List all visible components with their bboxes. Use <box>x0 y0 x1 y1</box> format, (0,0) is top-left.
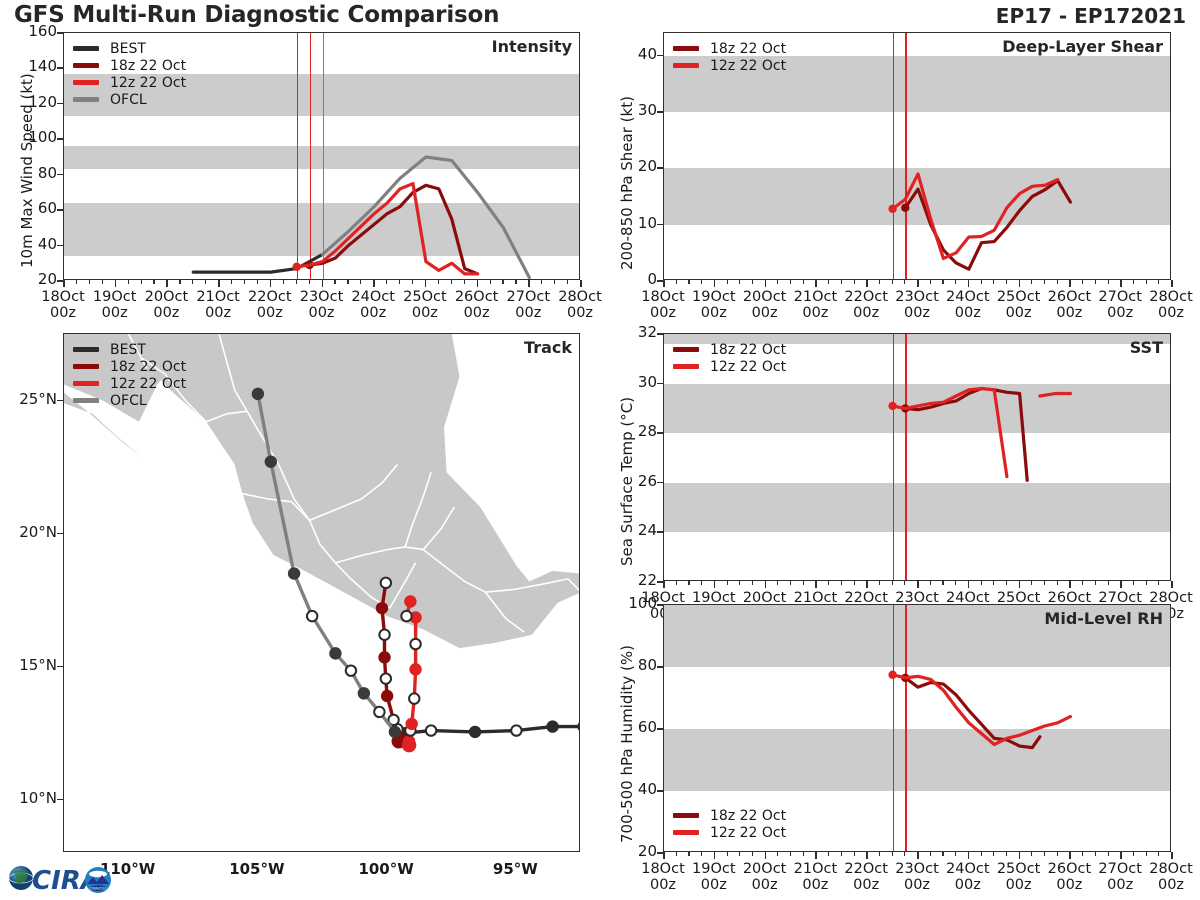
track-point-marker <box>410 664 420 674</box>
legend-label-best: BEST <box>110 41 146 57</box>
x-minor-tick <box>1082 581 1083 585</box>
track-origin-marker <box>402 738 416 752</box>
x-tick-mark <box>477 280 479 287</box>
x-tick-mark <box>580 280 582 287</box>
track-lat-tick <box>57 666 63 668</box>
x-minor-tick <box>1031 280 1032 284</box>
legend-label-run18z: 18z 22 Oct <box>710 808 786 824</box>
x-minor-tick <box>1095 581 1096 585</box>
legend-label-run12z: 12z 22 Oct <box>710 825 786 841</box>
legend-swatch-best <box>73 347 99 352</box>
track-point-marker <box>406 719 416 729</box>
track-point-marker <box>374 707 384 717</box>
x-minor-tick <box>752 280 753 284</box>
y-tick-mark <box>657 111 663 113</box>
legend-swatch-run18z <box>673 46 699 51</box>
x-tick-mark <box>1171 280 1173 287</box>
x-minor-tick <box>1133 581 1134 585</box>
cira-logo: CIRA CIRA/CSU <box>6 858 118 898</box>
x-tick-mark <box>815 581 817 588</box>
y-tick-mark <box>57 138 63 140</box>
x-minor-tick <box>993 581 994 585</box>
x-minor-tick <box>739 581 740 585</box>
sst-plot-area: SST 18z 22 Oct12z 22 Oct <box>663 333 1171 581</box>
x-minor-tick <box>854 581 855 585</box>
track-point-marker <box>379 630 389 640</box>
legend-label-run18z: 18z 22 Oct <box>710 342 786 358</box>
legend-entry-run18z: 18z 22 Oct <box>673 341 786 358</box>
y-tick-label: 28 <box>605 422 657 440</box>
x-minor-tick <box>904 852 905 856</box>
track-plot-area: Track BEST18z 22 Oct12z 22 OctOFCL <box>63 333 580 852</box>
x-minor-tick <box>892 581 893 585</box>
x-tick-mark <box>63 280 65 287</box>
page-title: GFS Multi-Run Diagnostic Comparison <box>14 2 499 28</box>
x-tick-mark <box>917 581 919 588</box>
x-minor-tick <box>1095 280 1096 284</box>
x-minor-tick <box>739 280 740 284</box>
x-minor-tick <box>701 852 702 856</box>
x-minor-tick <box>541 280 542 284</box>
y-tick-label: 10 <box>605 214 657 232</box>
track-lat-tick <box>57 400 63 402</box>
legend-entry-best: BEST <box>73 341 186 358</box>
x-minor-tick <box>76 280 77 284</box>
x-tick-mark <box>1069 280 1071 287</box>
storm-id-label: EP17 - EP172021 <box>996 4 1186 28</box>
x-minor-tick <box>790 280 791 284</box>
y-tick-mark <box>657 432 663 434</box>
x-minor-tick <box>1057 581 1058 585</box>
track-point-marker <box>547 721 557 731</box>
y-tick-label: 30 <box>605 101 657 119</box>
x-minor-tick <box>1057 280 1058 284</box>
x-minor-tick <box>360 280 361 284</box>
x-minor-tick <box>854 852 855 856</box>
legend-swatch-ofcl <box>73 97 99 102</box>
legend-entry-run18z: 18z 22 Oct <box>673 807 786 824</box>
x-minor-tick <box>828 581 829 585</box>
x-minor-tick <box>942 852 943 856</box>
x-minor-tick <box>231 280 232 284</box>
track-point-marker <box>470 727 480 737</box>
legend-entry-ofcl: OFCL <box>73 91 186 108</box>
x-minor-tick <box>752 852 753 856</box>
track-point-marker <box>330 648 340 658</box>
legend-entry-ofcl: OFCL <box>73 392 186 409</box>
x-tick-mark <box>270 280 272 287</box>
x-minor-tick <box>739 852 740 856</box>
x-minor-tick <box>179 280 180 284</box>
x-minor-tick <box>334 280 335 284</box>
x-tick-mark <box>815 852 817 859</box>
y-tick-mark <box>657 531 663 533</box>
x-tick-mark <box>765 581 767 588</box>
track-lat-label: 10°N <box>0 789 57 807</box>
x-minor-tick <box>828 852 829 856</box>
x-tick-mark <box>1019 852 1021 859</box>
y-tick-mark <box>57 32 63 34</box>
x-minor-tick <box>777 581 778 585</box>
x-minor-tick <box>688 280 689 284</box>
x-minor-tick <box>347 280 348 284</box>
track-point-marker <box>377 603 387 613</box>
rh-legend: 18z 22 Oct12z 22 Oct <box>673 807 786 841</box>
legend-swatch-run18z <box>73 63 99 68</box>
y-tick-label: 20 <box>605 842 657 860</box>
x-minor-tick <box>1044 280 1045 284</box>
x-minor-tick <box>502 280 503 284</box>
track-lon-label: 95°W <box>475 861 555 878</box>
x-tick-mark <box>1171 852 1173 859</box>
x-tick-mark <box>663 280 665 287</box>
x-minor-tick <box>1082 280 1083 284</box>
y-tick-label: 32 <box>605 323 657 341</box>
track-legend: BEST18z 22 Oct12z 22 OctOFCL <box>73 341 186 409</box>
x-minor-tick <box>701 581 702 585</box>
x-minor-tick <box>1006 581 1007 585</box>
y-tick-mark <box>657 728 663 730</box>
x-tick-mark <box>917 280 919 287</box>
x-minor-tick <box>309 280 310 284</box>
legend-entry-run12z: 12z 22 Oct <box>73 375 186 392</box>
x-minor-tick <box>1146 280 1147 284</box>
x-tick-mark <box>1120 852 1122 859</box>
y-tick-mark <box>657 224 663 226</box>
x-minor-tick <box>879 581 880 585</box>
x-tick-mark <box>115 280 117 287</box>
x-minor-tick <box>981 280 982 284</box>
y-tick-label: 80 <box>5 164 57 182</box>
x-tick-mark <box>425 280 427 287</box>
x-minor-tick <box>688 581 689 585</box>
legend-swatch-ofcl <box>73 398 99 403</box>
x-minor-tick <box>1133 280 1134 284</box>
x-minor-tick <box>841 852 842 856</box>
sst-legend: 18z 22 Oct12z 22 Oct <box>673 341 786 375</box>
track-lat-tick <box>57 799 63 801</box>
legend-label-run18z: 18z 22 Oct <box>110 58 186 74</box>
x-minor-tick <box>676 852 677 856</box>
x-tick-mark <box>1171 581 1173 588</box>
y-tick-mark <box>57 103 63 105</box>
svg-text:CIRA/CSU: CIRA/CSU <box>90 887 107 891</box>
x-tick-mark <box>1120 280 1122 287</box>
x-minor-tick <box>841 280 842 284</box>
y-tick-mark <box>657 383 663 385</box>
x-minor-tick <box>942 280 943 284</box>
track-point-marker <box>381 673 391 683</box>
legend-swatch-run18z <box>73 364 99 369</box>
y-tick-label: 24 <box>605 521 657 539</box>
x-minor-tick <box>841 581 842 585</box>
x-minor-tick <box>1006 280 1007 284</box>
track-point-marker <box>401 611 411 621</box>
legend-swatch-best <box>73 46 99 51</box>
x-minor-tick <box>153 280 154 284</box>
y-tick-mark <box>657 666 663 668</box>
x-tick-mark <box>663 852 665 859</box>
track-lat-label: 15°N <box>0 656 57 674</box>
x-tick-mark <box>1019 280 1021 287</box>
x-tick-mark <box>1019 581 1021 588</box>
x-minor-tick <box>879 280 880 284</box>
y-tick-mark <box>657 55 663 57</box>
x-minor-tick <box>1108 581 1109 585</box>
track-series-group <box>64 334 580 852</box>
x-minor-tick <box>752 581 753 585</box>
legend-entry-run12z: 12z 22 Oct <box>673 57 786 74</box>
intensity-legend: BEST18z 22 Oct12z 22 OctOFCL <box>73 40 186 108</box>
series-start-marker <box>888 205 896 213</box>
track-point-marker <box>426 725 436 735</box>
x-minor-tick <box>89 280 90 284</box>
y-tick-mark <box>657 790 663 792</box>
x-minor-tick <box>904 280 905 284</box>
legend-label-run12z: 12z 22 Oct <box>710 58 786 74</box>
x-minor-tick <box>1044 852 1045 856</box>
x-minor-tick <box>412 280 413 284</box>
x-minor-tick <box>1044 581 1045 585</box>
series-line-12z-22-oct-tail <box>1040 394 1070 396</box>
x-minor-tick <box>803 280 804 284</box>
y-tick-label: 26 <box>605 472 657 490</box>
x-minor-tick <box>1146 852 1147 856</box>
y-tick-mark <box>57 67 63 69</box>
track-lon-label: 105°W <box>217 861 297 878</box>
x-tick-mark <box>714 280 716 287</box>
legend-entry-run12z: 12z 22 Oct <box>73 74 186 91</box>
x-tick-mark <box>166 280 168 287</box>
track-lat-tick <box>57 533 63 535</box>
track-point-marker <box>346 665 356 675</box>
track-point-marker <box>266 457 276 467</box>
x-minor-tick <box>128 280 129 284</box>
y-tick-mark <box>657 482 663 484</box>
shear-plot-area: Deep-Layer Shear 18z 22 Oct12z 22 Oct <box>663 32 1171 280</box>
track-lat-label: 20°N <box>0 523 57 541</box>
series-line-12z-22-oct <box>297 184 478 274</box>
x-tick-mark <box>815 280 817 287</box>
x-minor-tick <box>567 280 568 284</box>
track-lon-label: 100°W <box>346 861 426 878</box>
x-tick-mark <box>663 581 665 588</box>
x-minor-tick <box>993 280 994 284</box>
track-point-marker <box>382 691 392 701</box>
x-minor-tick <box>803 852 804 856</box>
y-tick-mark <box>657 333 663 335</box>
panel-shear: Deep-Layer Shear 18z 22 Oct12z 22 Oct <box>663 32 1171 280</box>
y-tick-label: 20 <box>5 270 57 288</box>
y-tick-label: 80 <box>605 656 657 674</box>
track-point-marker <box>307 611 317 621</box>
y-tick-label: 22 <box>605 571 657 589</box>
x-minor-tick <box>930 852 931 856</box>
x-tick-mark <box>917 852 919 859</box>
x-minor-tick <box>464 280 465 284</box>
shear-legend: 18z 22 Oct12z 22 Oct <box>673 40 786 74</box>
x-minor-tick <box>803 581 804 585</box>
panel-track: Track BEST18z 22 Oct12z 22 OctOFCL <box>63 333 580 852</box>
series-start-marker <box>888 671 896 679</box>
y-tick-label: 40 <box>605 780 657 798</box>
y-tick-label: 60 <box>5 199 57 217</box>
track-point-marker <box>409 693 419 703</box>
legend-label-run18z: 18z 22 Oct <box>710 41 786 57</box>
rh-y-axis-label: 700-500 hPa Humidity (%) <box>618 645 636 843</box>
panel-intensity: Intensity BEST18z 22 Oct12z 22 OctOFCL <box>63 32 580 280</box>
x-tick-mark <box>968 581 970 588</box>
series-line-best <box>193 254 322 272</box>
x-minor-tick <box>727 852 728 856</box>
track-point-marker <box>511 725 521 735</box>
y-tick-label: 20 <box>605 157 657 175</box>
legend-entry-best: BEST <box>73 40 186 57</box>
y-tick-label: 140 <box>5 57 57 75</box>
x-minor-tick <box>790 581 791 585</box>
x-minor-tick <box>1095 852 1096 856</box>
legend-swatch-run18z <box>673 347 699 352</box>
x-minor-tick <box>1133 852 1134 856</box>
x-minor-tick <box>386 280 387 284</box>
x-tick-mark <box>322 280 324 287</box>
track-point-marker <box>578 721 580 731</box>
sst-title: SST <box>1130 338 1163 357</box>
legend-entry-run12z: 12z 22 Oct <box>673 824 786 841</box>
x-minor-tick <box>1158 280 1159 284</box>
legend-swatch-run12z <box>673 63 699 68</box>
x-tick-label: 28Oct00z <box>545 289 615 321</box>
legend-label-run12z: 12z 22 Oct <box>710 359 786 375</box>
series-line-12z-22-oct <box>893 174 1058 259</box>
x-minor-tick <box>981 852 982 856</box>
legend-label-best: BEST <box>110 342 146 358</box>
x-minor-tick <box>1158 581 1159 585</box>
series-start-marker <box>888 402 896 410</box>
y-tick-label: 40 <box>605 45 657 63</box>
rh-title: Mid-Level RH <box>1044 609 1163 628</box>
x-minor-tick <box>930 581 931 585</box>
x-tick-mark <box>714 852 716 859</box>
x-minor-tick <box>892 852 893 856</box>
legend-entry-run18z: 18z 22 Oct <box>673 40 786 57</box>
intensity-title: Intensity <box>492 37 572 56</box>
x-minor-tick <box>854 280 855 284</box>
track-lat-label: 25°N <box>0 390 57 408</box>
x-minor-tick <box>1108 852 1109 856</box>
series-line-18z-22-oct <box>905 678 1040 748</box>
x-minor-tick <box>283 280 284 284</box>
track-line-ofcl <box>258 394 395 732</box>
legend-swatch-run12z <box>673 364 699 369</box>
x-minor-tick <box>777 852 778 856</box>
x-minor-tick <box>777 280 778 284</box>
y-tick-label: 40 <box>5 235 57 253</box>
x-tick-mark <box>714 581 716 588</box>
y-tick-mark <box>657 604 663 606</box>
panel-sst: SST 18z 22 Oct12z 22 Oct <box>663 333 1171 581</box>
y-tick-label: 60 <box>605 718 657 736</box>
series-start-marker <box>292 263 300 271</box>
intensity-plot-area: Intensity BEST18z 22 Oct12z 22 OctOFCL <box>63 32 580 280</box>
x-minor-tick <box>701 280 702 284</box>
x-tick-mark <box>218 280 220 287</box>
y-tick-label: 120 <box>5 93 57 111</box>
x-minor-tick <box>727 280 728 284</box>
track-point-marker <box>390 727 400 737</box>
x-minor-tick <box>257 280 258 284</box>
x-tick-label: 28Oct00z <box>1136 289 1200 321</box>
x-minor-tick <box>879 852 880 856</box>
track-point-marker <box>410 639 420 649</box>
track-point-marker <box>381 578 391 588</box>
x-minor-tick <box>205 280 206 284</box>
y-tick-label: 160 <box>5 22 57 40</box>
x-minor-tick <box>955 280 956 284</box>
rh-plot-area: Mid-Level RH 18z 22 Oct12z 22 Oct <box>663 604 1171 852</box>
legend-entry-run12z: 12z 22 Oct <box>673 358 786 375</box>
series-line-18z-22-oct <box>310 185 478 274</box>
x-minor-tick <box>399 280 400 284</box>
x-tick-mark <box>866 852 868 859</box>
x-minor-tick <box>828 280 829 284</box>
track-point-marker <box>359 688 369 698</box>
x-minor-tick <box>727 581 728 585</box>
legend-swatch-run12z <box>73 80 99 85</box>
shear-title: Deep-Layer Shear <box>1002 37 1163 56</box>
legend-label-run12z: 12z 22 Oct <box>110 75 186 91</box>
legend-swatch-run12z <box>73 381 99 386</box>
x-minor-tick <box>141 280 142 284</box>
track-point-marker <box>405 596 415 606</box>
x-minor-tick <box>451 280 452 284</box>
x-minor-tick <box>1082 852 1083 856</box>
x-tick-mark <box>968 852 970 859</box>
legend-label-ofcl: OFCL <box>110 393 147 409</box>
legend-swatch-run12z <box>673 830 699 835</box>
x-minor-tick <box>192 280 193 284</box>
x-minor-tick <box>1146 581 1147 585</box>
x-minor-tick <box>942 581 943 585</box>
x-minor-tick <box>244 280 245 284</box>
x-tick-mark <box>1069 581 1071 588</box>
legend-label-ofcl: OFCL <box>110 92 147 108</box>
shear-y-axis-label: 200-850 hPa Shear (kt) <box>618 96 636 270</box>
series-line-18z-22-oct <box>905 389 1027 481</box>
x-minor-tick <box>515 280 516 284</box>
y-tick-mark <box>57 209 63 211</box>
x-tick-label: 28Oct00z <box>1136 861 1200 893</box>
legend-label-run18z: 18z 22 Oct <box>110 359 186 375</box>
x-minor-tick <box>490 280 491 284</box>
x-tick-mark <box>1120 581 1122 588</box>
x-minor-tick <box>1006 852 1007 856</box>
legend-entry-run18z: 18z 22 Oct <box>73 57 186 74</box>
x-minor-tick <box>676 280 677 284</box>
y-tick-label: 100 <box>605 594 657 612</box>
x-minor-tick <box>1108 280 1109 284</box>
track-point-marker <box>379 652 389 662</box>
x-tick-mark <box>1069 852 1071 859</box>
x-tick-mark <box>866 280 868 287</box>
y-tick-mark <box>657 167 663 169</box>
x-minor-tick <box>930 280 931 284</box>
x-minor-tick <box>1031 581 1032 585</box>
x-tick-mark <box>528 280 530 287</box>
x-minor-tick <box>904 581 905 585</box>
y-tick-mark <box>57 174 63 176</box>
x-minor-tick <box>296 280 297 284</box>
